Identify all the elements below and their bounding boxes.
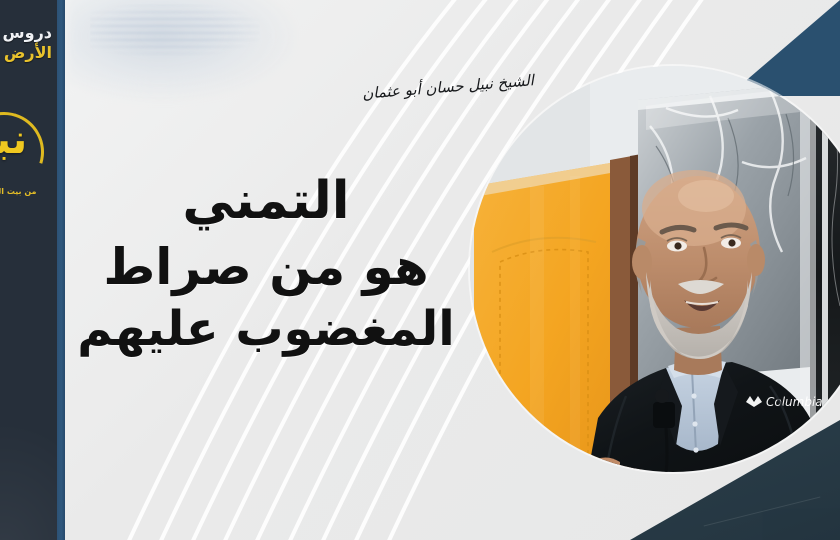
main-title: التمني هو من صراط المغضوب عليهم [70, 168, 462, 360]
sidebar-heading-line2: الأرض المباركة [0, 44, 52, 62]
left-sidebar-panel [0, 0, 57, 540]
logo-glyph: نبأ [0, 120, 52, 160]
wedge-hairline [704, 496, 821, 526]
title-line-2: هو من صراط [70, 235, 462, 299]
sidebar-logo: نبأ من بيت المقدس [0, 110, 52, 196]
speaker-photo-art: Columbia [470, 66, 840, 472]
thumbnail-canvas: Columbia دروس من الأرض المباركة نبأ من ب… [0, 0, 840, 540]
left-accent-stripe [57, 0, 65, 540]
speaker-photo: Columbia [470, 66, 840, 472]
svg-text:Columbia: Columbia [766, 395, 823, 409]
panel-sheen [0, 420, 57, 540]
sidebar-heading-line1: دروس من [0, 24, 52, 42]
watermark-texture [90, 4, 260, 56]
logo-subtitle: من بيت المقدس [0, 187, 52, 196]
title-line-3: المغضوب عليهم [70, 299, 462, 360]
sidebar-heading: دروس من الأرض المباركة [0, 24, 52, 62]
title-line-1: التمني [70, 168, 462, 235]
